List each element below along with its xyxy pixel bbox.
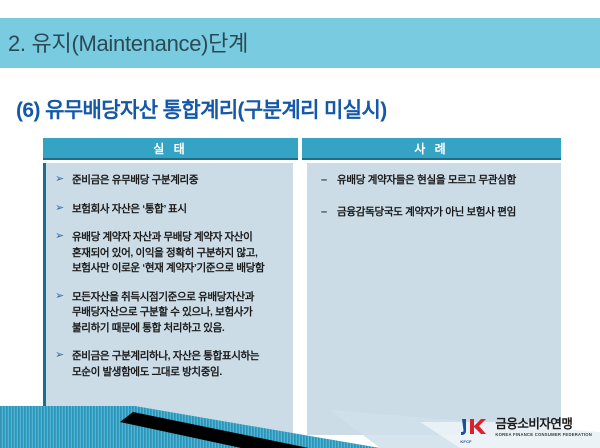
logo-name-ko: 금융소비자연맹 xyxy=(495,418,592,431)
list-item: ➢ 유배당 계약자 자산과 무배당 계약자 자산이 혼재되어 있어, 이익을 정… xyxy=(52,230,285,277)
logo-name-en: KOREA FINANCE CONSUMER FEDERATION xyxy=(495,433,592,437)
list-item-text: 보험회사 자산은 ‘통합’ 표시 xyxy=(72,203,187,215)
list-item-text: 유배당 계약자들은 현실을 모르고 무관심함 xyxy=(337,174,516,186)
status-bullet-list: ➢ 준비금은 유무배당 구분계리중 ➢ 보험회사 자산은 ‘통합’ 표시 ➢ 유… xyxy=(52,173,285,380)
dash-bullet-icon: – xyxy=(321,173,327,189)
list-item: – 유배당 계약자들은 현실을 모르고 무관심함 xyxy=(319,173,553,189)
list-item: ➢ 준비금은 구분계리하나, 자산은 통합표시하는 모순이 발생함에도 그대로 … xyxy=(52,349,285,380)
section-subtitle: (6) 유무배당자산 통합계리(구분계리 미실시) xyxy=(16,94,387,124)
list-item: ➢ 모든자산을 취득시점기준으로 유배당자산과 무배당자산으로 구분할 수 있으… xyxy=(52,290,285,337)
list-item-text: 준비금은 구분계리하나, 자산은 통합표시하는 모순이 발생함에도 그대로 방치… xyxy=(72,350,259,378)
list-item-text: 금융감독당국도 계약자가 아닌 보험사 편임 xyxy=(337,206,516,218)
logo-abbreviation: KFCF xyxy=(460,439,471,444)
comparison-table: 실 태 사 례 ➢ 준비금은 유무배당 구분계리중 ➢ 보험회사 자산은 ‘통합… xyxy=(43,138,561,435)
table-cell-status: ➢ 준비금은 유무배당 구분계리중 ➢ 보험회사 자산은 ‘통합’ 표시 ➢ 유… xyxy=(43,163,293,435)
arrow-bullet-icon: ➢ xyxy=(55,172,64,188)
list-item: ➢ 준비금은 유무배당 구분계리중 xyxy=(52,173,285,189)
table-header-row: 실 태 사 례 xyxy=(43,138,561,160)
slide-canvas: 2. 유지(Maintenance)단계 (6) 유무배당자산 통합계리(구분계… xyxy=(0,0,600,448)
list-item-text: 준비금은 유무배당 구분계리중 xyxy=(72,174,198,186)
case-bullet-list: – 유배당 계약자들은 현실을 모르고 무관심함 – 금융감독당국도 계약자가 … xyxy=(319,173,553,220)
arrow-bullet-icon: ➢ xyxy=(55,289,64,305)
jk-logo-mark-icon: KFCF xyxy=(460,417,490,439)
table-cell-case: – 유배당 계약자들은 현실을 모르고 무관심함 – 금융감독당국도 계약자가 … xyxy=(307,163,561,435)
list-item-text: 모든자산을 취득시점기준으로 유배당자산과 무배당자산으로 구분할 수 있으나,… xyxy=(72,291,254,334)
list-item-text: 유배당 계약자 자산과 무배당 계약자 자산이 혼재되어 있어, 이익을 정확히… xyxy=(72,231,264,274)
arrow-bullet-icon: ➢ xyxy=(55,348,64,364)
table-body-row: ➢ 준비금은 유무배당 구분계리중 ➢ 보험회사 자산은 ‘통합’ 표시 ➢ 유… xyxy=(43,163,561,435)
logo-text-block: 금융소비자연맹 KOREA FINANCE CONSUMER FEDERATIO… xyxy=(495,418,592,437)
dash-bullet-icon: – xyxy=(321,205,327,221)
page-title: 2. 유지(Maintenance)단계 xyxy=(8,26,248,58)
arrow-bullet-icon: ➢ xyxy=(55,229,64,245)
list-item: ➢ 보험회사 자산은 ‘통합’ 표시 xyxy=(52,202,285,218)
table-column-divider xyxy=(293,163,307,435)
list-item: – 금융감독당국도 계약자가 아닌 보험사 편임 xyxy=(319,205,553,221)
table-header-case: 사 례 xyxy=(302,138,561,160)
organization-logo: KFCF 금융소비자연맹 KOREA FINANCE CONSUMER FEDE… xyxy=(460,417,592,439)
arrow-bullet-icon: ➢ xyxy=(55,201,64,217)
table-header-status: 실 태 xyxy=(43,138,298,160)
